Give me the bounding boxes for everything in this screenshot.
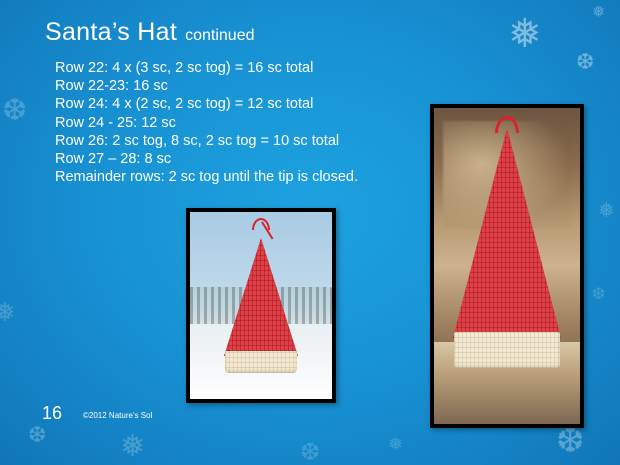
hat-white-brim xyxy=(454,332,560,368)
snowflake-icon: ❅ xyxy=(120,432,145,462)
instruction-line: Row 24: 4 x (2 sc, 2 sc tog) = 12 sc tot… xyxy=(55,95,475,113)
snowflake-icon: ❆ xyxy=(592,286,605,302)
page-number: 16 xyxy=(42,403,62,424)
santa-hat-photo-indoor xyxy=(430,104,584,428)
photo-content xyxy=(434,108,580,424)
snowflake-icon: ❆ xyxy=(2,96,27,126)
photo-content xyxy=(190,212,332,399)
snowflake-icon: ❅ xyxy=(592,4,605,20)
snowflake-icon: ❅ xyxy=(0,300,16,326)
slide-canvas: ❅ ❆ ❅ ❆ ❅ ❆ ❅ ❆ ❅ ❆ ❅ ❆ Santa’s Hatconti… xyxy=(0,0,620,465)
santa-hat-photo-snow xyxy=(186,208,336,403)
instruction-line: Row 24 - 25: 12 sc xyxy=(55,114,475,132)
pattern-instructions: Row 22: 4 x (3 sc, 2 sc tog) = 16 sc tot… xyxy=(55,59,475,186)
instruction-line: Row 22-23: 16 sc xyxy=(55,77,475,95)
snowflake-icon: ❆ xyxy=(556,424,585,458)
slide-title: Santa’s Hatcontinued xyxy=(45,18,254,47)
copyright-notice: ©2012 Nature’s Sol xyxy=(83,411,152,420)
page-title: Santa’s Hat xyxy=(45,18,177,46)
snowflake-icon: ❆ xyxy=(576,52,594,74)
snowflake-icon: ❅ xyxy=(508,14,542,54)
hat-white-brim xyxy=(225,351,297,373)
instruction-line: Row 26: 2 sc tog, 8 sc, 2 sc tog = 10 sc… xyxy=(55,132,475,150)
instruction-line: Remainder rows: 2 sc tog until the tip i… xyxy=(55,168,475,186)
snowflake-icon: ❆ xyxy=(28,425,46,447)
snowflake-icon: ❆ xyxy=(300,440,320,464)
instruction-line: Row 22: 4 x (3 sc, 2 sc tog) = 16 sc tot… xyxy=(55,59,475,77)
snowflake-icon: ❅ xyxy=(388,436,403,454)
instruction-line: Row 27 – 28: 8 sc xyxy=(55,150,475,168)
snowflake-icon: ❅ xyxy=(598,200,615,220)
page-title-suffix: continued xyxy=(185,27,254,44)
